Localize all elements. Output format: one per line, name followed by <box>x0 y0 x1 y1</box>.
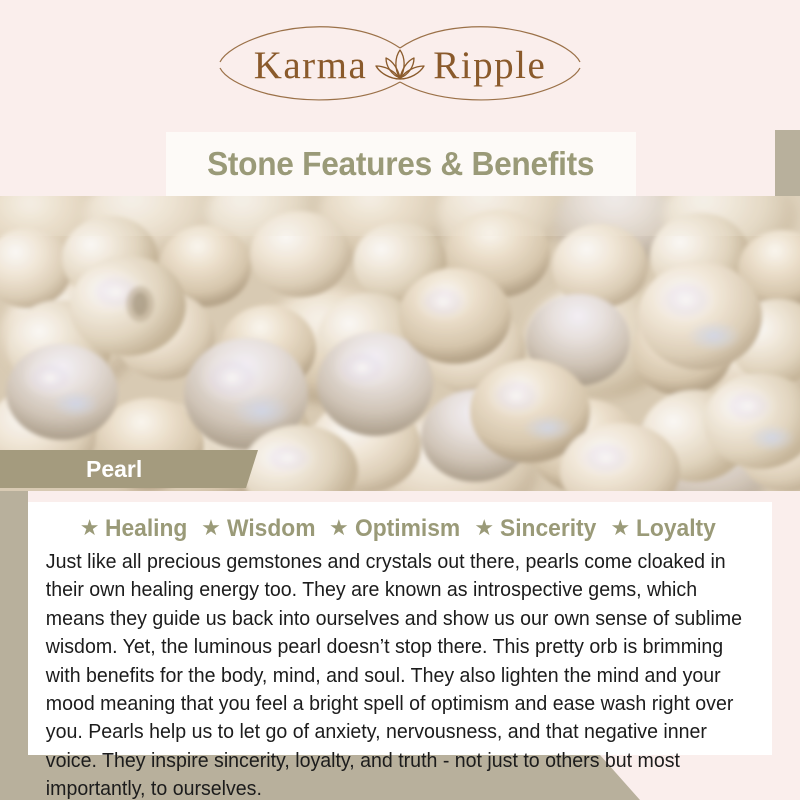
benefit-item: ★ Optimism <box>329 515 465 543</box>
stone-name: Pearl <box>0 456 142 483</box>
benefit-item: ★ Healing <box>80 515 192 543</box>
benefit-item: ★ Sincerity <box>474 515 601 543</box>
benefit-label: Optimism <box>355 515 460 543</box>
benefit-label: Sincerity <box>500 515 596 543</box>
lotus-icon <box>373 45 427 85</box>
title-band: Stone Features & Benefits <box>166 132 636 196</box>
benefit-item: ★ Loyalty <box>611 515 721 543</box>
benefit-label: Loyalty <box>636 515 716 543</box>
star-icon: ★ <box>611 517 631 539</box>
benefit-label: Wisdom <box>227 515 315 543</box>
brand-word-karma: Karma <box>254 46 368 85</box>
stone-description: Just like all precious gemstones and cry… <box>40 546 760 800</box>
poster-root: Karma Ripple Stone Features & Benefits <box>0 0 800 800</box>
brand-logo: Karma Ripple <box>190 26 610 104</box>
pearls-photo <box>0 196 800 491</box>
stone-name-banner: Pearl <box>0 450 258 488</box>
star-icon: ★ <box>474 517 494 539</box>
brand-word-ripple: Ripple <box>433 46 546 85</box>
star-icon: ★ <box>201 517 221 539</box>
content-panel: ★ Healing ★ Wisdom ★ Optimism ★ Sincerit… <box>28 502 772 755</box>
benefit-label: Healing <box>105 515 187 543</box>
benefits-list: ★ Healing ★ Wisdom ★ Optimism ★ Sincerit… <box>40 512 760 546</box>
star-icon: ★ <box>329 517 349 539</box>
page-title: Stone Features & Benefits <box>207 145 594 183</box>
photo-content-divider <box>28 491 772 502</box>
brand-header: Karma Ripple <box>0 0 800 130</box>
benefit-item: ★ Wisdom <box>201 515 320 543</box>
star-icon: ★ <box>80 517 100 539</box>
